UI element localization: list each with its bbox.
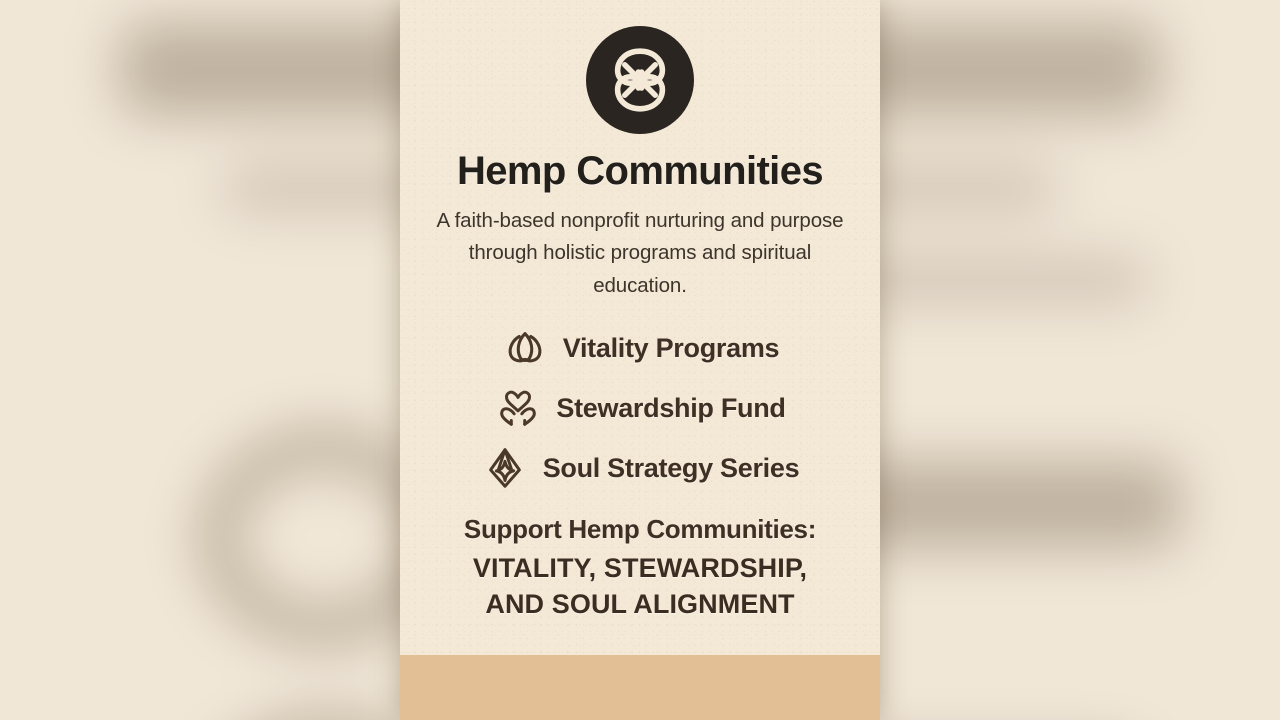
feature-label: Stewardship Fund [556,393,785,424]
lotus-icon [501,324,549,372]
feature-label: Soul Strategy Series [543,453,800,484]
feature-item[interactable]: Soul Strategy Series [481,444,800,492]
cta-lead-text: Support Hemp Communities: [426,514,854,545]
cta-main-text: VITALITY, STEWARDSHIP, AND SOUL ALIGNMEN… [426,551,854,623]
bottom-accent-band [400,655,880,720]
call-to-action: Support Hemp Communities: VITALITY, STEW… [426,514,854,623]
gem-icon [481,444,529,492]
cta-main-line-2: AND SOUL ALIGNMENT [426,587,854,623]
hands-heart-icon [494,384,542,432]
poster-stage: Hemp Communities A faith-based nonprofit… [0,0,1280,720]
feature-item[interactable]: Vitality Programs [501,324,780,372]
organization-title: Hemp Communities [426,150,854,192]
cta-main-line-1: VITALITY, STEWARDSHIP, [426,551,854,587]
logo-container [426,26,854,134]
feature-label: Vitality Programs [563,333,780,364]
organization-tagline: A faith-based nonprofit nurturing and pu… [426,205,854,302]
celtic-knot-icon [586,26,694,134]
feature-item[interactable]: Stewardship Fund [494,384,785,432]
poster-card: Hemp Communities A faith-based nonprofit… [400,0,880,720]
feature-list: Vitality Programs [426,324,854,492]
